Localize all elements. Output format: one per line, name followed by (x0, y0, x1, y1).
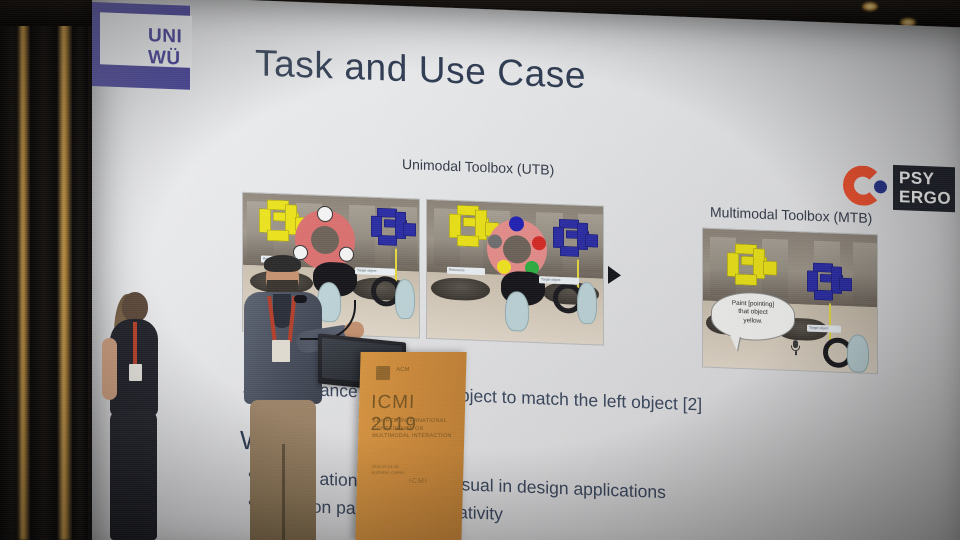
conference-podium: ACM ICMI 2019 21st ACM INTERNATIONAL CON… (355, 352, 466, 540)
vr-controller-right (819, 333, 875, 374)
attendee-standing (96, 292, 174, 540)
object-label-target: Target object (807, 325, 841, 333)
caption-unimodal-toolbox: Unimodal Toolbox (UTB) (402, 156, 554, 178)
menu-item-icon-top[interactable] (317, 206, 333, 223)
caption-multimodal-toolbox: Multimodal Toolbox (MTB) (710, 204, 872, 226)
attendee-head (122, 292, 148, 322)
projection-screen: UNI WÜ PSY ERGO Task and Use Case Unimod… (92, 0, 960, 540)
attendee-legs (110, 410, 157, 540)
podium-event-subtitle: 21st ACM INTERNATIONAL CONFERENCE ON MUL… (372, 418, 452, 441)
color-swatch-gray[interactable] (488, 234, 502, 249)
attendee-arm (102, 338, 117, 400)
presenter-leg-split (282, 444, 285, 540)
color-swatch-red[interactable] (532, 236, 546, 251)
podium-event-date: 2019.10.14-18 SUZHOU, CHINA (371, 464, 404, 476)
vr-window (853, 243, 878, 302)
university-logo-line1: UNI (148, 26, 182, 46)
wall-light-strip (16, 0, 30, 540)
object-label-target: Target object (539, 276, 579, 285)
slide-title: Task and Use Case (255, 42, 586, 97)
podium-secondary-logo: ACM (396, 367, 410, 373)
podium-org-logo (376, 366, 390, 380)
presenter-badge (272, 340, 290, 362)
wall-panel (30, 0, 58, 540)
ceiling-light (862, 2, 878, 11)
color-swatch-blue[interactable] (509, 216, 524, 232)
university-logo: UNI WÜ (92, 2, 190, 90)
attendee-badge (129, 364, 142, 381)
attendee-lanyard (133, 322, 137, 366)
yellow-voxel-object (727, 243, 783, 293)
podium-watermark: ICMI (409, 478, 428, 485)
voice-command-line3: yellow. (717, 316, 789, 327)
blue-voxel-object (553, 219, 599, 263)
vr-controller-right (371, 272, 420, 326)
arrow-right-icon (608, 266, 621, 285)
university-logo-line2: WÜ (148, 48, 181, 68)
blue-voxel-object (807, 263, 855, 307)
blue-voxel-object (371, 208, 419, 252)
vr-controller-right (553, 277, 604, 331)
screenshot-root: UNI WÜ PSY ERGO Task and Use Case Unimod… (0, 0, 960, 540)
podium-date-line2: SUZHOU, CHINA (371, 470, 404, 476)
figure-mtb: Paint [pointing] that object yellow. Tar… (702, 227, 878, 374)
podium-subtitle-line3: MULTIMODAL INTERACTION (372, 433, 452, 441)
wall-panel (72, 0, 88, 540)
podium-subtitle-line2: CONFERENCE ON (372, 426, 452, 434)
radial-menu-hole (311, 225, 339, 254)
object-label-reference: Reference (447, 267, 485, 275)
figure-utb-step2: Reference Target object (426, 199, 604, 346)
radial-menu-hole (503, 235, 531, 264)
presenter-hair (264, 255, 301, 272)
podium-subtitle-line1: 21st ACM INTERNATIONAL (373, 418, 453, 426)
bubble-tail (730, 336, 740, 351)
wall-light-strip (56, 0, 72, 540)
microphone-icon (791, 340, 800, 356)
presenter-shirt (273, 294, 291, 328)
